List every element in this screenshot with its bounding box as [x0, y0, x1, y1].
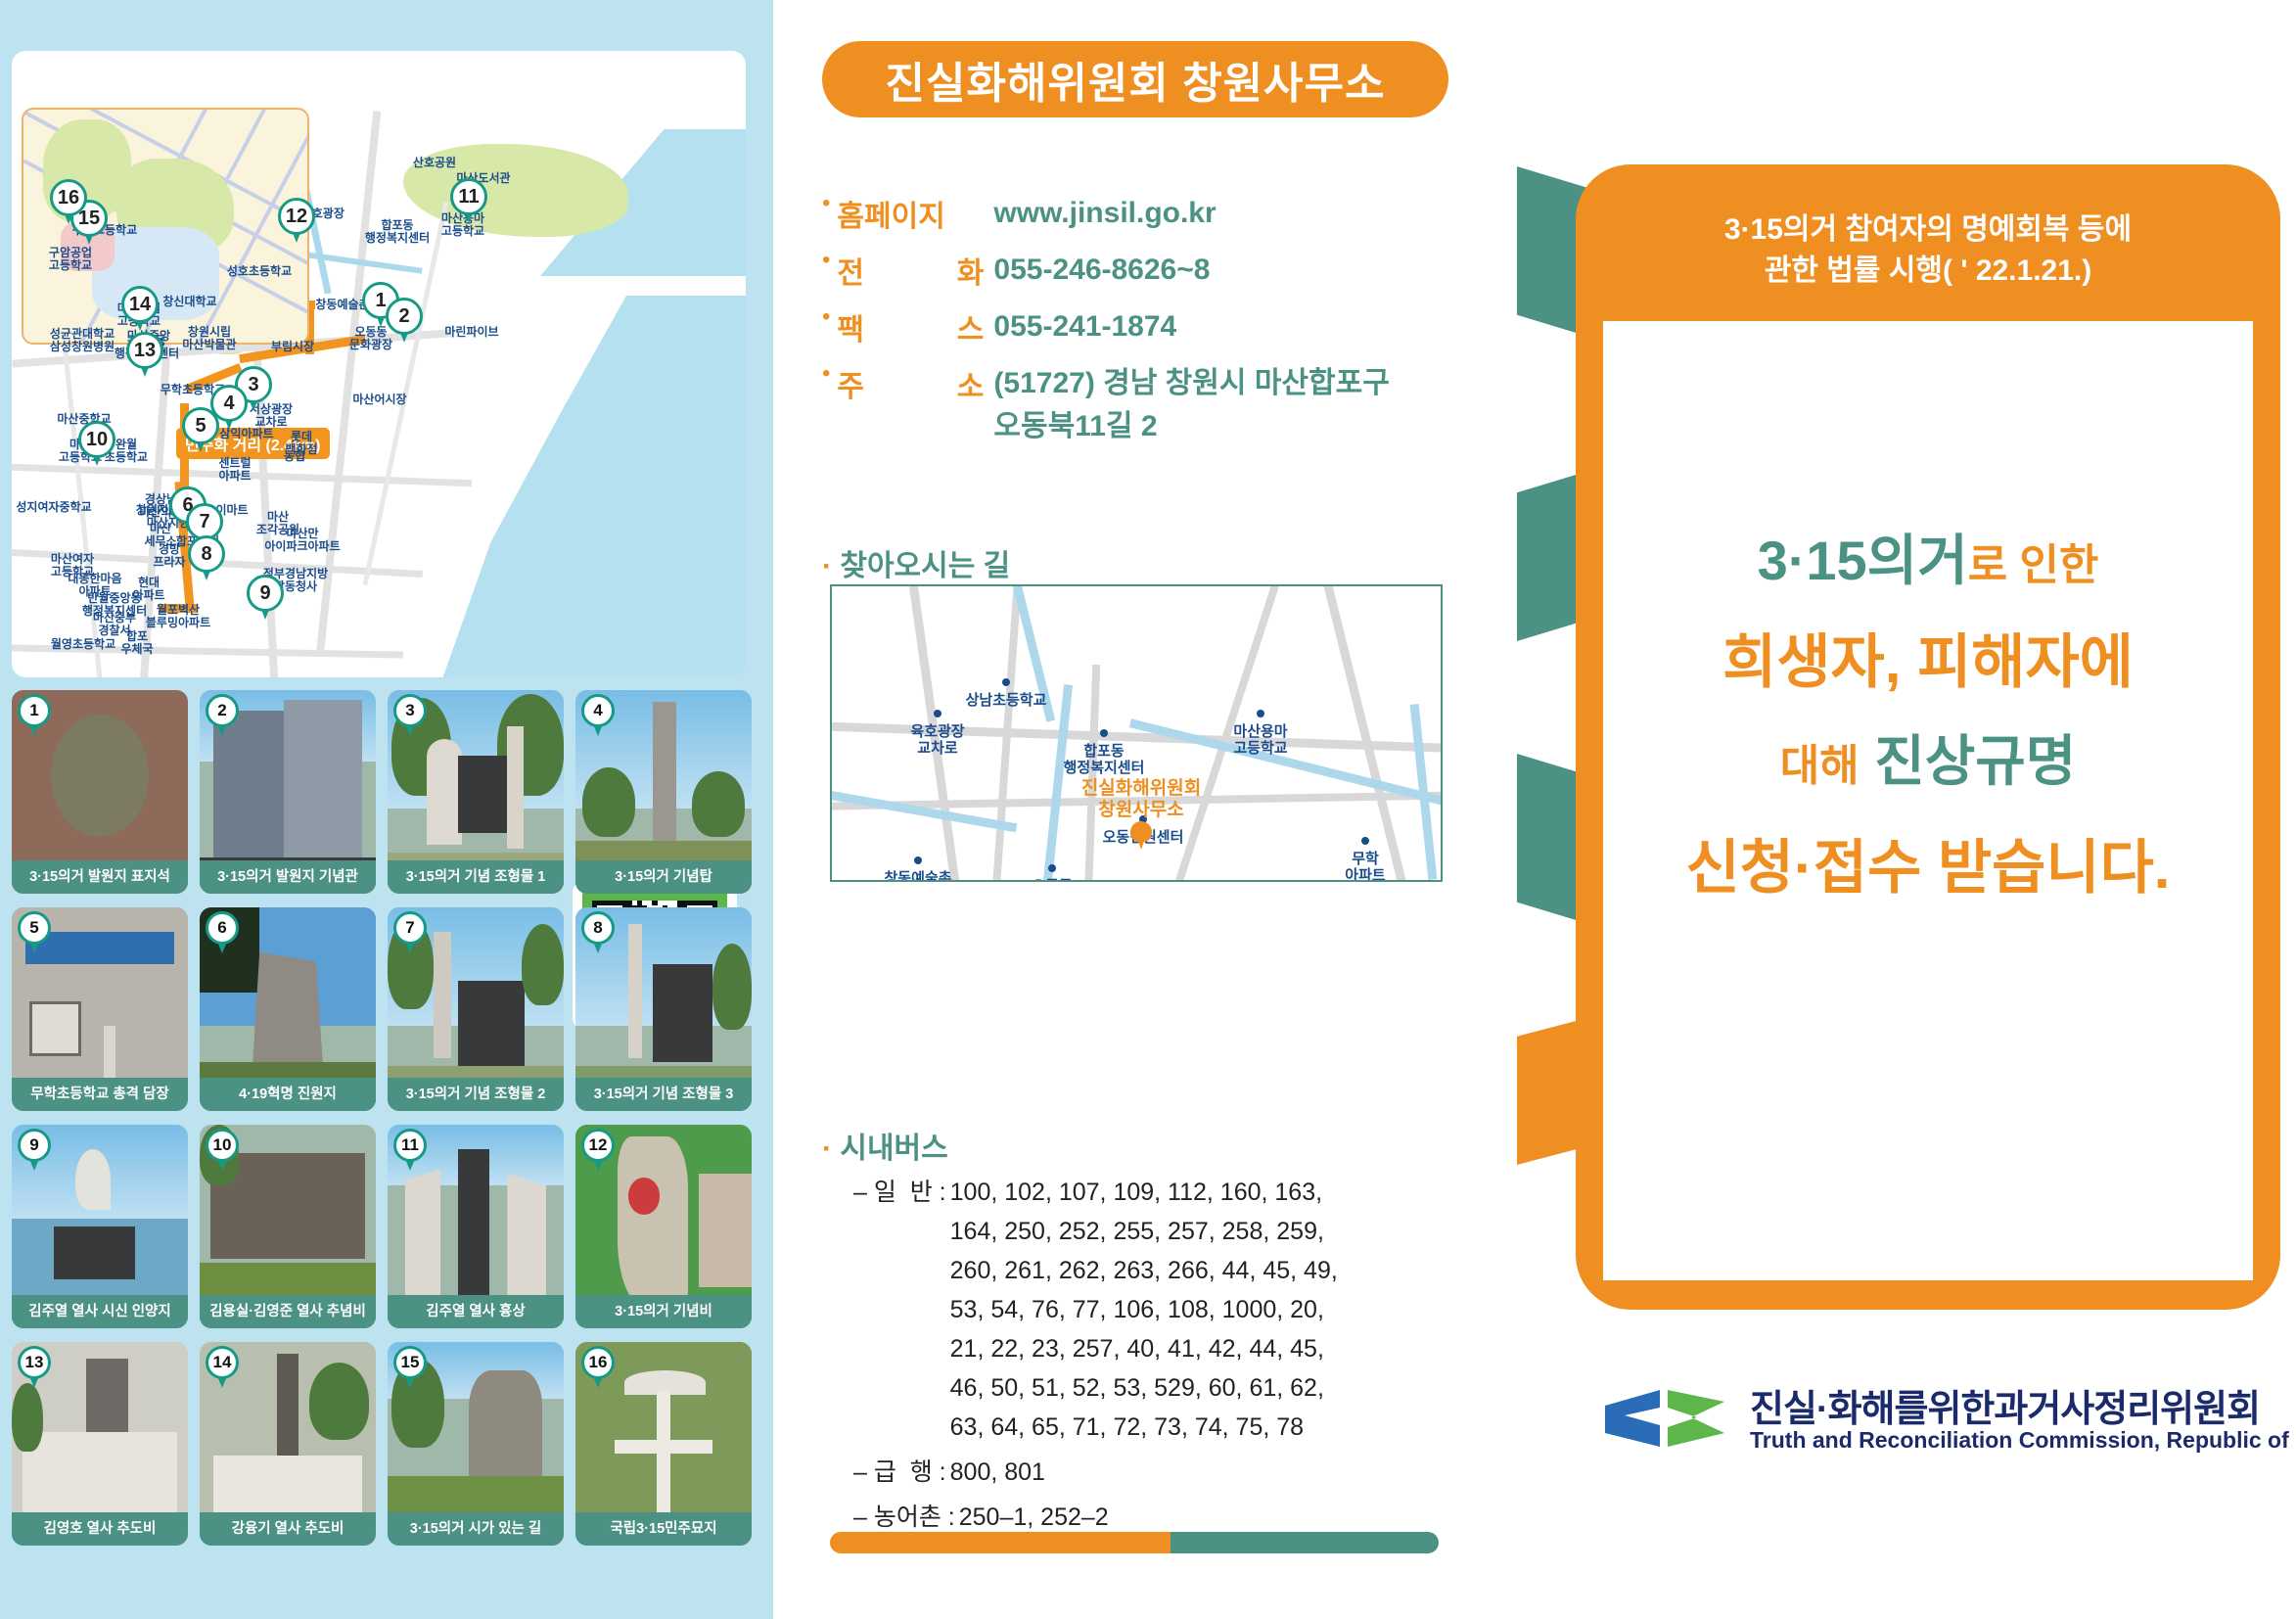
- photo-caption: 3·15의거 기념 조형물 2: [388, 1078, 564, 1111]
- trc-logo-mark: [1603, 1384, 1728, 1455]
- photo-number-pin-1: 1: [18, 694, 51, 737]
- pin-number: 2: [206, 694, 239, 727]
- contact-row: •주소(51727) 경남 창원시 마산합포구 오동북11길 2: [822, 362, 1390, 448]
- trc-logo: 진실·화해를위한과거사정리위원회 Truth and Reconciliatio…: [1603, 1370, 2249, 1478]
- map-label: 마산어시장: [336, 393, 424, 406]
- directions-heading: · 찾아오시는 길: [822, 541, 1010, 584]
- contact-key-left: 전: [837, 249, 864, 292]
- middle-column: 진실화해위원회 창원사무소 •홈페이지www.jinsil.go.kr•전화05…: [793, 0, 1517, 1619]
- pin-number: 12: [278, 198, 315, 235]
- contact-row: •팩스055-241-1874: [822, 305, 1176, 348]
- trc-bracket-icon: [1603, 1384, 1728, 1455]
- bullet-icon: •: [822, 192, 830, 215]
- bus-heading-text: 시내버스: [840, 1133, 947, 1165]
- photo-card[interactable]: 3·15의거 기념비12: [575, 1125, 752, 1328]
- pin-number: 7: [393, 911, 427, 945]
- photo-card[interactable]: 4·19혁명 진원지6: [200, 907, 376, 1111]
- pin-number: 1: [18, 694, 51, 727]
- pin-number: 9: [18, 1129, 51, 1162]
- contact-key: 주소: [837, 362, 984, 405]
- contact-key: 홈페이지: [837, 192, 984, 235]
- map-label: 월영초등학교: [39, 638, 127, 651]
- law-notice-text: 3·15의거 참여자의 명예회복 등에 관한 법률 시행( ' 22.1.21.…: [1603, 192, 2253, 309]
- photo-number-pin-2: 2: [206, 694, 239, 737]
- pin-number: 8: [581, 911, 615, 945]
- pin-number: 16: [581, 1346, 615, 1379]
- pin-number: 14: [121, 286, 159, 323]
- photo-caption: 3·15의거 기념 조형물 3: [575, 1078, 752, 1111]
- map-pin-11[interactable]: 11: [450, 178, 487, 225]
- headline-line-4: 신청·접수 받습니다.: [1603, 820, 2253, 905]
- map-pin-10[interactable]: 10: [78, 421, 115, 468]
- directions-heading-text: 찾아오시는 길: [840, 550, 1010, 582]
- map-label: 부림시장: [249, 341, 337, 353]
- contact-row: •홈페이지www.jinsil.go.kr: [822, 192, 1217, 235]
- pin-number: 11: [450, 178, 487, 215]
- contact-value: 055-246-8626~8: [993, 249, 1210, 292]
- map-pin-5[interactable]: 5: [182, 407, 219, 454]
- announcement-white-area: 3·15의거로 인한 희생자, 피해자에 대해 진상규명 신청·접수 받습니다.: [1603, 321, 2253, 1280]
- map-label: 구암공업 고등학교: [26, 247, 115, 272]
- photo-caption: 김영호 열사 추도비: [12, 1512, 188, 1546]
- heritage-photo-grid: 3·15의거 발원지 표지석13·15의거 발원지 기념관23·15의거 기념 …: [12, 690, 752, 1571]
- bus-row-label: – 농어촌 :: [853, 1498, 955, 1537]
- photo-number-pin-3: 3: [393, 694, 427, 737]
- contact-key-right: 소: [957, 362, 985, 405]
- bus-row: – 농어촌 :250–1, 252–2: [853, 1498, 1109, 1537]
- map-pin-9[interactable]: 9: [247, 575, 284, 622]
- photo-caption: 3·15의거 발원지 기념관: [200, 860, 376, 894]
- pin-number: 16: [50, 179, 87, 216]
- photo-number-pin-10: 10: [206, 1129, 239, 1172]
- pin-number: 14: [206, 1346, 239, 1379]
- announcement-card: 3·15의거 참여자의 명예회복 등에 관한 법률 시행( ' 22.1.21.…: [1576, 164, 2280, 1310]
- headline-line-3: 대해 진상규명: [1603, 717, 2253, 797]
- office-banner: 진실화해위원회 창원사무소: [822, 41, 1448, 117]
- photo-card[interactable]: 3·15의거 기념 조형물 27: [388, 907, 564, 1111]
- pin-number: 11: [393, 1129, 427, 1162]
- headline-l1-orange: 로 인한: [1968, 541, 2099, 589]
- photo-caption: 김주열 열사 흉상: [388, 1295, 564, 1328]
- headline-line-1: 3·15의거로 인한: [1603, 517, 2253, 596]
- map-label: 성호초등학교: [215, 265, 303, 278]
- pin-number: 5: [18, 911, 51, 945]
- contact-value: (51727) 경남 창원시 마산합포구 오동북11길 2: [993, 362, 1389, 448]
- bar-teal-segment: [1171, 1532, 1439, 1553]
- minimap-label: 마산용마 고등학교: [1202, 723, 1319, 757]
- photo-card[interactable]: 김영호 열사 추도비13: [12, 1342, 188, 1546]
- pin-number: 6: [206, 911, 239, 945]
- contact-key: 전화: [837, 249, 984, 292]
- photo-card[interactable]: 3·15의거 발원지 기념관2: [200, 690, 376, 894]
- photo-number-pin-4: 4: [581, 694, 615, 737]
- minimap-label: 무학 아파트: [1307, 851, 1424, 882]
- photo-caption: 3·15의거 기념 조형물 1: [388, 860, 564, 894]
- photo-card[interactable]: 무학초등학교 총격 담장5: [12, 907, 188, 1111]
- trc-logo-english: Truth and Reconciliation Commission, Rep…: [1750, 1427, 2296, 1454]
- minimap-dot: [914, 856, 922, 864]
- contact-key-left: 홈페이지: [837, 192, 944, 235]
- contact-value: 055-241-1874: [993, 305, 1176, 348]
- sea-area: [433, 296, 746, 677]
- map-label: 창신대학교: [146, 296, 234, 308]
- headline-l3-pre: 대해: [1780, 742, 1860, 790]
- photo-card[interactable]: 3·15의거 기념탑4: [575, 690, 752, 894]
- photo-number-pin-9: 9: [18, 1129, 51, 1172]
- map-label: 마산만 아이파크아파트: [258, 528, 346, 553]
- contact-value[interactable]: www.jinsil.go.kr: [993, 192, 1216, 235]
- headline-l1-green: 3·15의거: [1758, 530, 1968, 591]
- photo-card[interactable]: 3·15의거 기념 조형물 38: [575, 907, 752, 1111]
- minimap-dot: [1100, 729, 1108, 737]
- bus-row-values: 800, 801: [950, 1453, 1045, 1492]
- minimap-label: 육호광장 교차로: [879, 723, 996, 757]
- bar-orange-segment: [830, 1532, 1171, 1553]
- photo-card[interactable]: 김주열 열사 흉상11: [388, 1125, 564, 1328]
- photo-number-pin-6: 6: [206, 911, 239, 954]
- photo-card[interactable]: 김용실·김영준 열사 추념비10: [200, 1125, 376, 1328]
- contact-key-left: 팩: [837, 305, 864, 348]
- map-pin-8[interactable]: 8: [188, 535, 225, 582]
- map-pin-14[interactable]: 14: [121, 286, 159, 333]
- pin-number: 13: [18, 1346, 51, 1379]
- bottom-color-bar: [830, 1532, 1439, 1553]
- pin-number: 10: [206, 1129, 239, 1162]
- photo-number-pin-5: 5: [18, 911, 51, 954]
- map-pin-13[interactable]: 13: [126, 332, 163, 379]
- minimap-river: [830, 790, 1017, 833]
- minimap-label: 합포동 행정복지센터: [1045, 743, 1163, 776]
- pin-number: 10: [78, 421, 115, 458]
- minimap-label: 상남초등학교: [947, 692, 1065, 709]
- pin-number: 3: [393, 694, 427, 727]
- pin-number: 8: [188, 535, 225, 573]
- photo-number-pin-7: 7: [393, 911, 427, 954]
- pin-number: 15: [393, 1346, 427, 1379]
- pin-tip: [1136, 836, 1146, 850]
- photo-number-pin-16: 16: [581, 1346, 615, 1389]
- photo-number-pin-14: 14: [206, 1346, 239, 1389]
- photo-number-pin-13: 13: [18, 1346, 51, 1389]
- map-pin-12[interactable]: 12: [278, 198, 315, 245]
- office-map-label: 진실화해위원회 창원사무소: [1024, 778, 1259, 821]
- minimap-label: 창동예술촌: [859, 870, 977, 882]
- bus-row-values: 250–1, 252–2: [959, 1498, 1109, 1537]
- headline-line-2: 희생자, 피해자에: [1603, 615, 2253, 700]
- map-pin-2[interactable]: 2: [386, 298, 423, 345]
- bullet-icon: •: [822, 305, 830, 329]
- map-label: 농협: [251, 450, 339, 463]
- photo-card[interactable]: 3·15의거 기념 조형물 13: [388, 690, 564, 894]
- democracy-heritage-map: 민주화 거리 (2.4km) 산호공원마산도서관6호광장합포동 행정복지센터마산…: [12, 51, 746, 677]
- bullet-icon: •: [822, 362, 830, 386]
- photo-caption: 국립3·15민주묘지: [575, 1512, 752, 1546]
- bus-row-label: – 급 행 :: [853, 1453, 946, 1492]
- minimap-dot: [1002, 678, 1010, 686]
- photo-caption: 3·15의거 발원지 표지석: [12, 860, 188, 894]
- photo-number-pin-8: 8: [581, 911, 615, 954]
- photo-caption: 3·15의거 시가 있는 길: [388, 1512, 564, 1546]
- photo-card[interactable]: 강융기 열사 추도비14: [200, 1342, 376, 1546]
- minimap-label: 오동동 문화광장: [993, 878, 1111, 882]
- photo-caption: 4·19혁명 진원지: [200, 1078, 376, 1111]
- map-label: 산호공원: [390, 157, 479, 169]
- photo-caption: 3·15의거 기념비: [575, 1295, 752, 1328]
- photo-caption: 무학초등학교 총격 담장: [12, 1078, 188, 1111]
- photo-caption: 강융기 열사 추도비: [200, 1512, 376, 1546]
- office-location-map: 상남초등학교육호광장 교차로합포동 행정복지센터마산용마 고등학교오동민원센터무…: [830, 584, 1443, 882]
- office-map-pin: [1130, 821, 1152, 851]
- minimap-dot: [1361, 837, 1369, 845]
- photo-number-pin-11: 11: [393, 1129, 427, 1172]
- right-panel: 3·15의거 참여자의 명예회복 등에 관한 법률 시행( ' 22.1.21.…: [1517, 0, 2296, 1619]
- photo-number-pin-15: 15: [393, 1346, 427, 1389]
- pin-number: 9: [247, 575, 284, 612]
- map-label: 마린파이브: [428, 326, 516, 339]
- bus-row: – 급 행 :800, 801: [853, 1453, 1045, 1492]
- pin-number: 12: [581, 1129, 615, 1162]
- bullet-icon: •: [822, 249, 830, 272]
- contact-key-right: 화: [957, 249, 985, 292]
- photo-card[interactable]: 3·15의거 시가 있는 길15: [388, 1342, 564, 1546]
- contact-key-right: 스: [957, 305, 985, 348]
- photo-caption: 김용실·김영준 열사 추념비: [200, 1295, 376, 1328]
- trc-logo-korean: 진실·화해를위한과거사정리위원회: [1750, 1378, 2260, 1432]
- photo-caption: 김주열 열사 시신 인양지: [12, 1295, 188, 1328]
- left-panel: 민주화 거리 (2.4km) 산호공원마산도서관6호광장합포동 행정복지센터마산…: [0, 0, 773, 1619]
- bus-row-label: – 일 반 :: [853, 1173, 946, 1212]
- minimap-dot: [1048, 864, 1056, 872]
- photo-card[interactable]: 국립3·15민주묘지16: [575, 1342, 752, 1546]
- bus-heading: · 시내버스: [822, 1124, 948, 1167]
- brochure-page: 민주화 거리 (2.4km) 산호공원마산도서관6호광장합포동 행정복지센터마산…: [0, 0, 2296, 1619]
- minimap-dot: [934, 710, 941, 717]
- contact-key: 팩스: [837, 305, 984, 348]
- pin-number: 5: [182, 407, 219, 444]
- bus-row: – 일 반 :100, 102, 107, 109, 112, 160, 163…: [853, 1173, 1338, 1447]
- map-label: 성지여자중학교: [12, 501, 98, 514]
- map-pin-16[interactable]: 16: [50, 179, 87, 226]
- pin-number: 13: [126, 332, 163, 369]
- photo-number-pin-12: 12: [581, 1129, 615, 1172]
- photo-card[interactable]: 김주열 열사 시신 인양지9: [12, 1125, 188, 1328]
- minimap-dot: [1257, 710, 1264, 717]
- photo-caption: 3·15의거 기념탑: [575, 860, 752, 894]
- pin-number: 4: [581, 694, 615, 727]
- photo-card[interactable]: 3·15의거 발원지 표지석1: [12, 690, 188, 894]
- contact-key-left: 주: [837, 362, 864, 405]
- pin-number: 2: [386, 298, 423, 335]
- bus-row-values: 100, 102, 107, 109, 112, 160, 163, 164, …: [950, 1173, 1338, 1447]
- contact-row: •전화055-246-8626~8: [822, 249, 1210, 292]
- headline-l3-main: 진상규명: [1874, 730, 2076, 792]
